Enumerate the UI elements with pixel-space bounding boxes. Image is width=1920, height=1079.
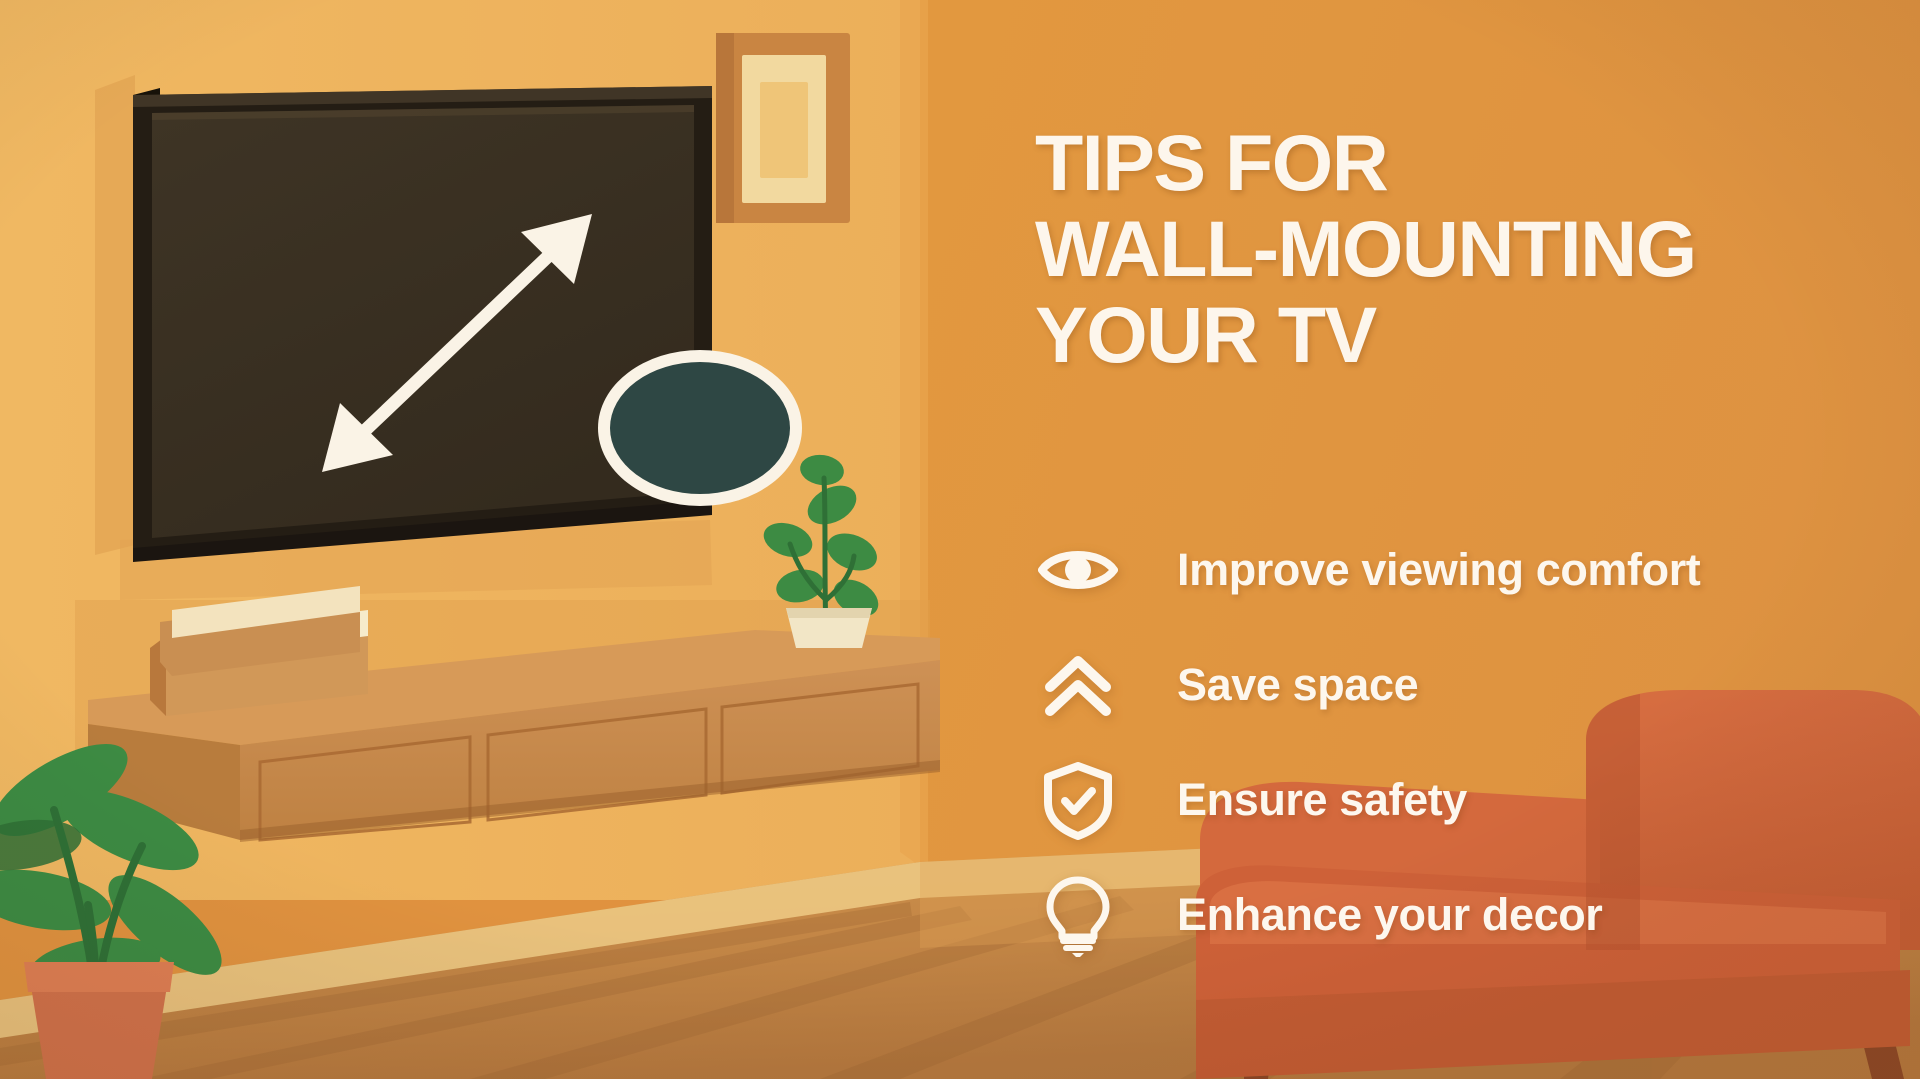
text-panel: TIPS FOR WALL-MOUNTING YOUR TV Improve v… [1025, 0, 1920, 1079]
benefit-item-save-space: Save space [1035, 627, 1915, 742]
benefit-label: Improve viewing comfort [1177, 544, 1700, 596]
eye-icon [1035, 527, 1121, 613]
title-line-2: WALL-MOUNTING [1035, 206, 1920, 292]
benefit-item-ensure-safety: Ensure safety [1035, 742, 1915, 857]
benefit-label: Save space [1177, 659, 1418, 711]
shield-check-icon [1035, 757, 1121, 843]
benefit-label: Ensure safety [1177, 774, 1467, 826]
lightbulb-icon [1035, 872, 1121, 958]
benefit-item-improve-viewing-comfort: Improve viewing comfort [1035, 512, 1915, 627]
poster-title: TIPS FOR WALL-MOUNTING YOUR TV [1035, 120, 1920, 378]
title-line-3: YOUR TV [1035, 292, 1920, 378]
benefit-label: Enhance your decor [1177, 889, 1602, 941]
poster-canvas: TIPS FOR WALL-MOUNTING YOUR TV Improve v… [0, 0, 1920, 1079]
benefits-list: Improve viewing comfort Save space [1035, 512, 1915, 972]
title-line-1: TIPS FOR [1035, 120, 1920, 206]
benefit-item-enhance-your-decor: Enhance your decor [1035, 857, 1915, 972]
double-chevron-up-icon [1035, 642, 1121, 728]
